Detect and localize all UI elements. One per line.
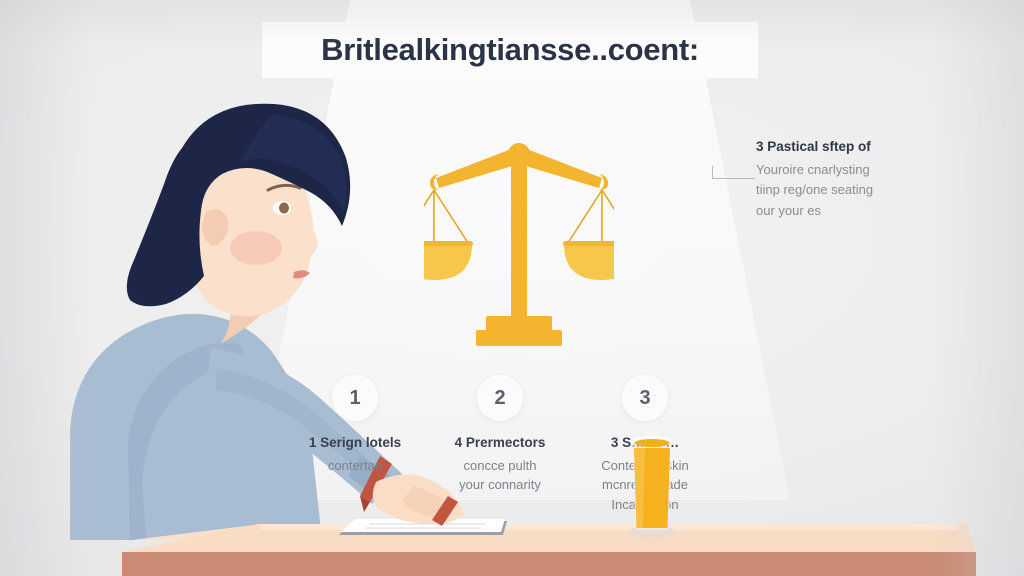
step-badge-1: 1: [333, 376, 377, 420]
step-line-1-1: contertan: [280, 456, 430, 476]
step-title-1: 1 Serign lotels: [280, 434, 430, 453]
callout-title: 3 Pastical sftep of: [756, 138, 924, 156]
callout-line-1: Youroire cnarlysting: [756, 160, 924, 180]
step-title-2: 4 Prermectors: [425, 434, 575, 453]
callout-body: 3 Pastical sftep of Youroire cnarlysting…: [756, 138, 924, 221]
step-badge-2: 2: [478, 376, 522, 420]
step-line-2-2: your connarity: [425, 475, 575, 495]
step-item-2: 2 4 Prermectors concce pulth your connar…: [425, 376, 575, 495]
callout-connector-line: [712, 166, 755, 179]
title-banner: Britlealkingtiansse..coent:: [262, 22, 758, 78]
callout-line-3: our your es: [756, 201, 924, 221]
page-title: Britlealkingtiansse..coent:: [321, 32, 699, 68]
step-line-2-1: concce pulth: [425, 456, 575, 476]
illustration-canvas: Britlealkingtiansse..coent: 3 Pastical s…: [0, 0, 1024, 576]
step-badge-3: 3: [623, 376, 667, 420]
glass-of-juice-icon: [625, 432, 679, 540]
callout-line-2: tiinp reg/one seating: [756, 180, 924, 200]
step-item-1: 1 1 Serign lotels contertan: [280, 376, 430, 475]
balance-scale-icon: [424, 134, 614, 352]
